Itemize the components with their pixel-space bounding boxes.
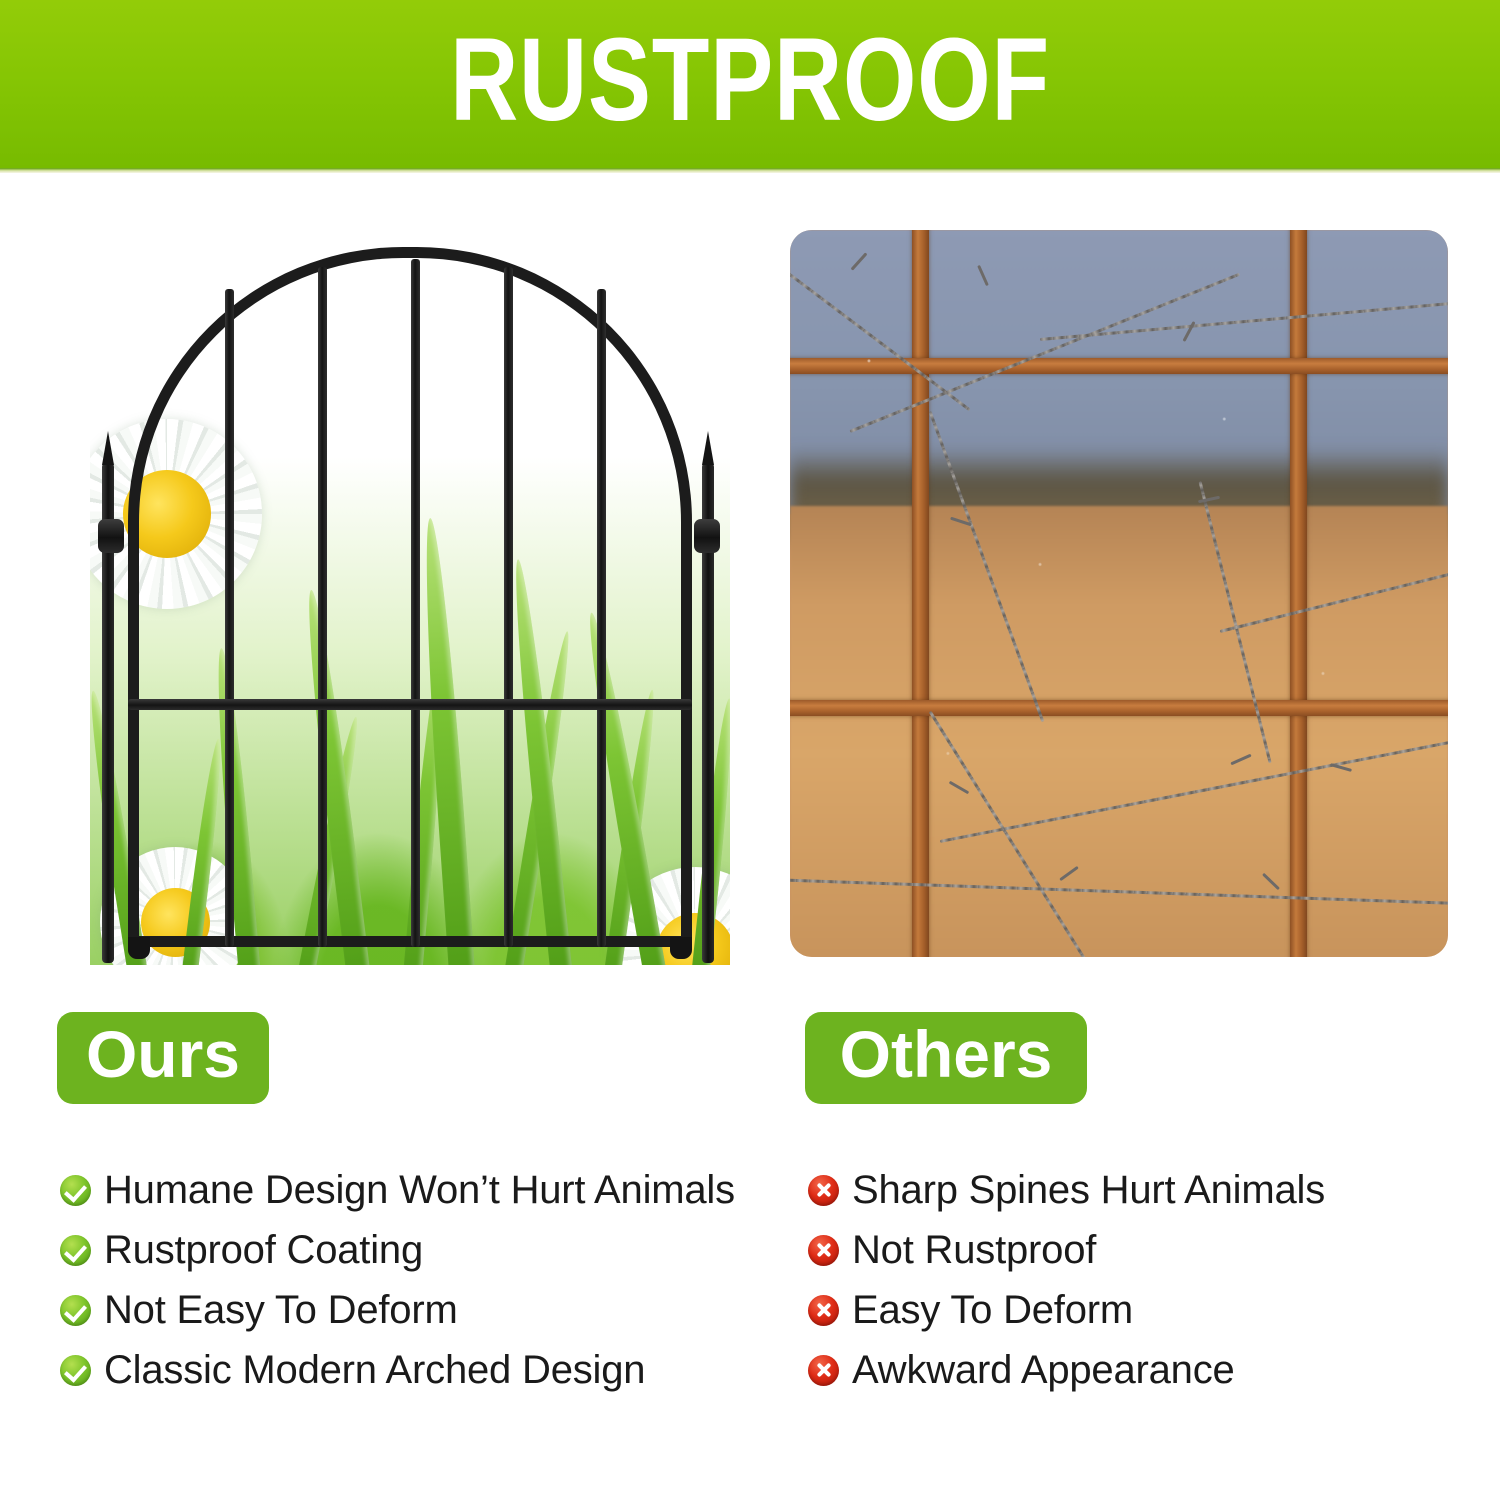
list-item-label: Not Rustproof xyxy=(852,1228,1096,1273)
fence-vertical-bar xyxy=(597,289,606,947)
others-feature-list: Sharp Spines Hurt Animals Not Rustproof … xyxy=(808,1160,1468,1400)
header-banner: RUSTPROOF xyxy=(0,0,1500,168)
fence-bracket xyxy=(694,519,720,553)
list-item-label: Easy To Deform xyxy=(852,1288,1133,1333)
list-item: Not Rustproof xyxy=(808,1220,1468,1280)
list-item: Humane Design Won’t Hurt Animals xyxy=(60,1160,780,1220)
check-circle-icon xyxy=(60,1235,91,1266)
check-circle-icon xyxy=(60,1295,91,1326)
list-item-label: Not Easy To Deform xyxy=(104,1288,458,1333)
rebar-horizontal xyxy=(790,358,1448,374)
fence-foot xyxy=(128,937,150,959)
fence-arch-frame xyxy=(128,247,692,947)
list-item-label: Classic Modern Arched Design xyxy=(104,1348,645,1393)
rebar-vertical xyxy=(1290,230,1307,957)
list-item: Awkward Appearance xyxy=(808,1340,1468,1400)
list-item: Easy To Deform xyxy=(808,1280,1468,1340)
fence-vertical-bar xyxy=(411,259,420,947)
rebar-vertical xyxy=(912,230,929,957)
fence-vertical-bar xyxy=(318,267,327,947)
list-item: Not Easy To Deform xyxy=(60,1280,780,1340)
fence-vertical-bar xyxy=(225,289,234,947)
comparison-photos xyxy=(0,205,1500,980)
list-item-label: Awkward Appearance xyxy=(852,1348,1235,1393)
rebar-horizontal xyxy=(790,700,1448,716)
badge-ours: Ours xyxy=(57,1012,269,1104)
fence-scene xyxy=(90,247,730,965)
list-item-label: Sharp Spines Hurt Animals xyxy=(852,1168,1325,1213)
check-circle-icon xyxy=(60,1355,91,1386)
ours-product-photo xyxy=(44,225,734,965)
cross-circle-icon xyxy=(808,1235,839,1266)
ours-feature-list: Humane Design Won’t Hurt Animals Rustpro… xyxy=(60,1160,780,1400)
cross-circle-icon xyxy=(808,1175,839,1206)
list-item-label: Rustproof Coating xyxy=(104,1228,423,1273)
fence-stake-tip xyxy=(102,431,114,465)
list-item-label: Humane Design Won’t Hurt Animals xyxy=(104,1168,735,1213)
check-circle-icon xyxy=(60,1175,91,1206)
fence-stake-tip xyxy=(702,431,714,465)
others-product-photo xyxy=(790,230,1448,957)
badge-others: Others xyxy=(805,1012,1087,1104)
cross-circle-icon xyxy=(808,1295,839,1326)
fence-horizontal-rail xyxy=(128,699,692,710)
list-item: Sharp Spines Hurt Animals xyxy=(808,1160,1468,1220)
banner-divider xyxy=(0,168,1500,173)
cross-circle-icon xyxy=(808,1355,839,1386)
page-title: RUSTPROOF xyxy=(150,18,1350,142)
list-item: Rustproof Coating xyxy=(60,1220,780,1280)
list-item: Classic Modern Arched Design xyxy=(60,1340,780,1400)
fence-bracket xyxy=(98,519,124,553)
fence-vertical-bar xyxy=(504,267,513,947)
fence-foot xyxy=(670,937,692,959)
